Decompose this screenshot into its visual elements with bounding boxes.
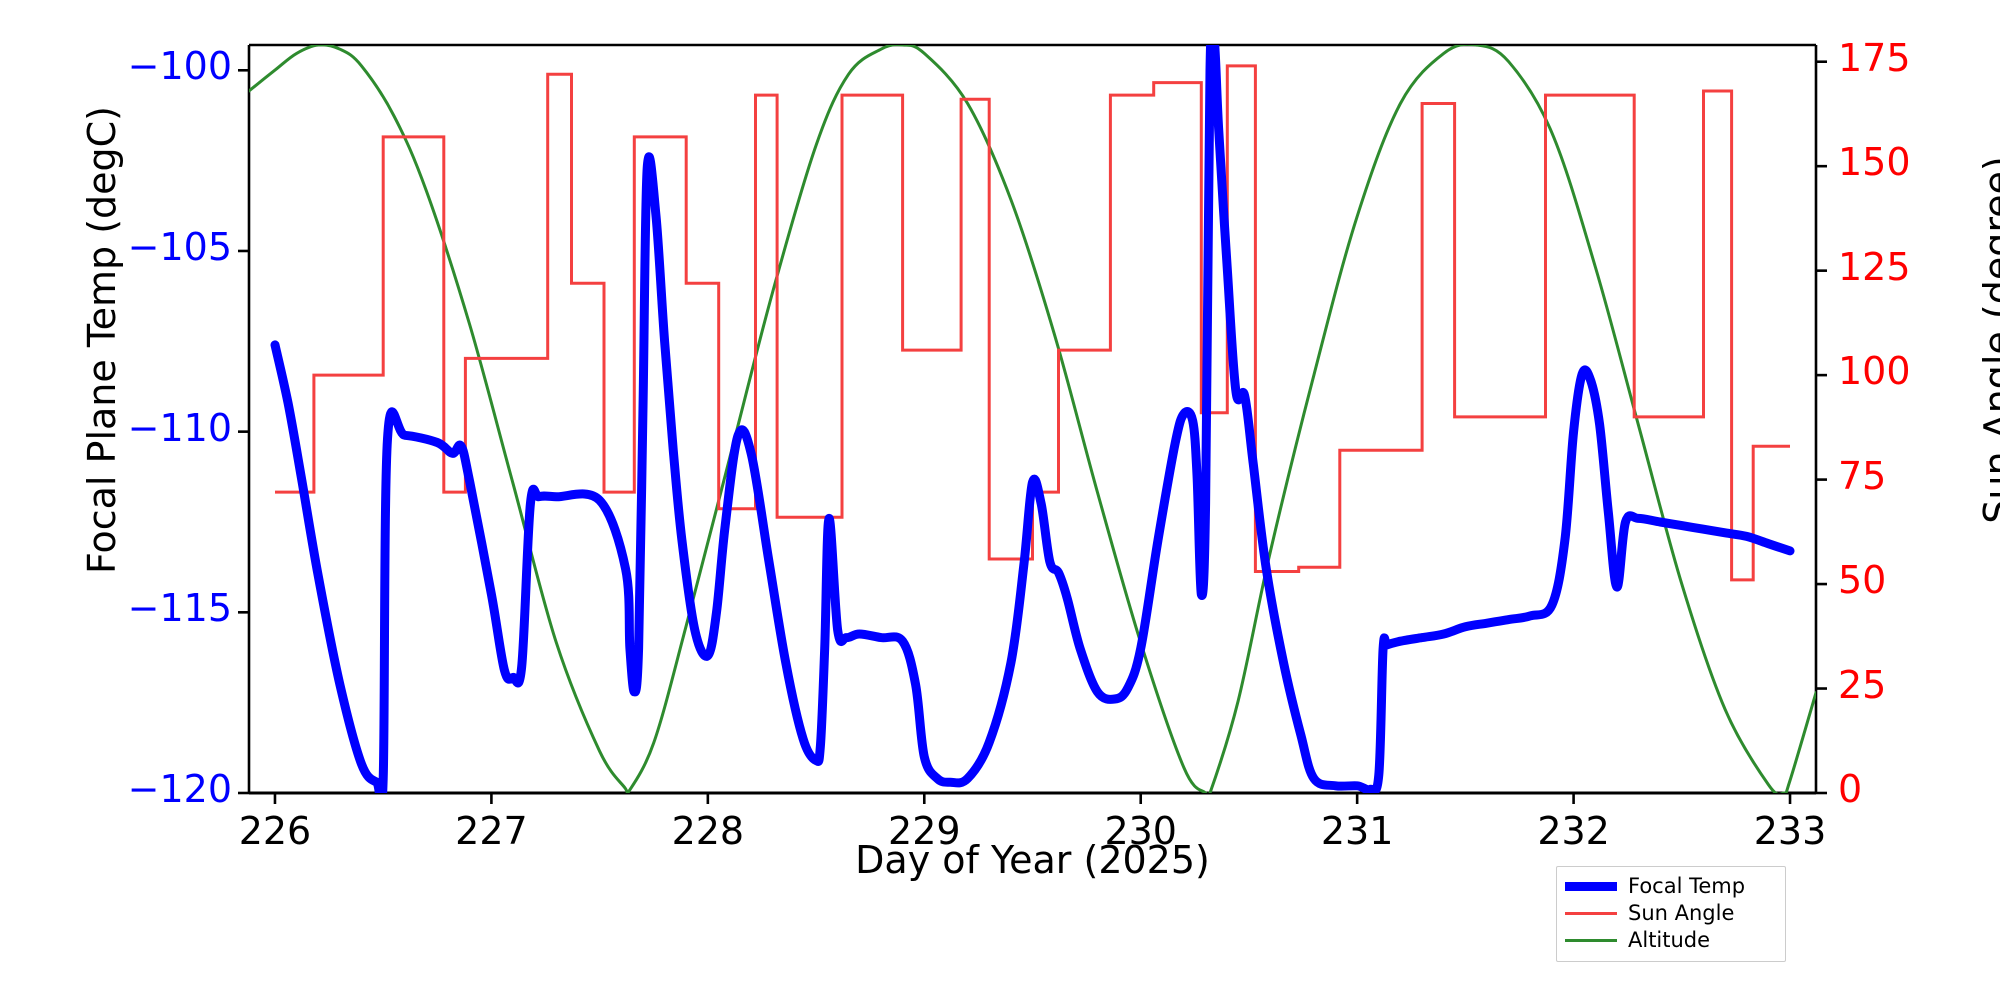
x-tick-label: 232 xyxy=(1514,809,1634,853)
legend-swatch-sun-angle xyxy=(1565,912,1617,915)
y-tick-label-right: 175 xyxy=(1838,36,1911,80)
x-tick-label: 233 xyxy=(1730,809,1850,853)
y-tick-label-left: −120 xyxy=(128,767,232,811)
y-tick-label-right: 50 xyxy=(1838,558,1886,602)
y-tick-label-right: 150 xyxy=(1838,140,1911,184)
legend-label-focal-temp: Focal Temp xyxy=(1628,876,1745,897)
legend-swatch-altitude xyxy=(1565,939,1617,942)
x-tick-label: 226 xyxy=(215,809,335,853)
legend-box[interactable]: Focal Temp Sun Angle Altitude xyxy=(1556,866,1786,962)
x-tick-label: 227 xyxy=(431,809,551,853)
legend-item[interactable]: Altitude xyxy=(1565,927,1777,954)
y-tick-label-left: −100 xyxy=(128,44,232,88)
x-tick-label: 230 xyxy=(1081,809,1201,853)
x-tick-label: 229 xyxy=(864,809,984,853)
legend-item[interactable]: Focal Temp xyxy=(1565,873,1777,900)
y-tick-label-right: 100 xyxy=(1838,349,1911,393)
y-tick-label-right: 0 xyxy=(1838,767,1862,811)
figure-canvas: Focal Plane Temp (degC) Sun Angle (degre… xyxy=(0,0,2000,1000)
legend-label-sun-angle: Sun Angle xyxy=(1628,903,1734,924)
x-tick-label: 228 xyxy=(648,809,768,853)
y-tick-label-left: −110 xyxy=(128,406,232,450)
series-line-altitude xyxy=(249,44,1816,801)
axis-ticks xyxy=(238,62,1827,804)
y-tick-label-left: −105 xyxy=(128,225,232,269)
legend-swatch-focal-temp xyxy=(1565,882,1617,891)
y-tick-label-left: −115 xyxy=(128,586,232,630)
y-tick-label-right: 75 xyxy=(1838,454,1886,498)
axes-spines xyxy=(249,45,1816,793)
x-tick-label: 231 xyxy=(1297,809,1417,853)
series-line-focal-temp xyxy=(275,23,1790,806)
y-tick-label-right: 125 xyxy=(1838,245,1911,289)
y-tick-label-right: 25 xyxy=(1838,663,1886,707)
legend-item[interactable]: Sun Angle xyxy=(1565,900,1777,927)
legend-label-altitude: Altitude xyxy=(1628,930,1710,951)
